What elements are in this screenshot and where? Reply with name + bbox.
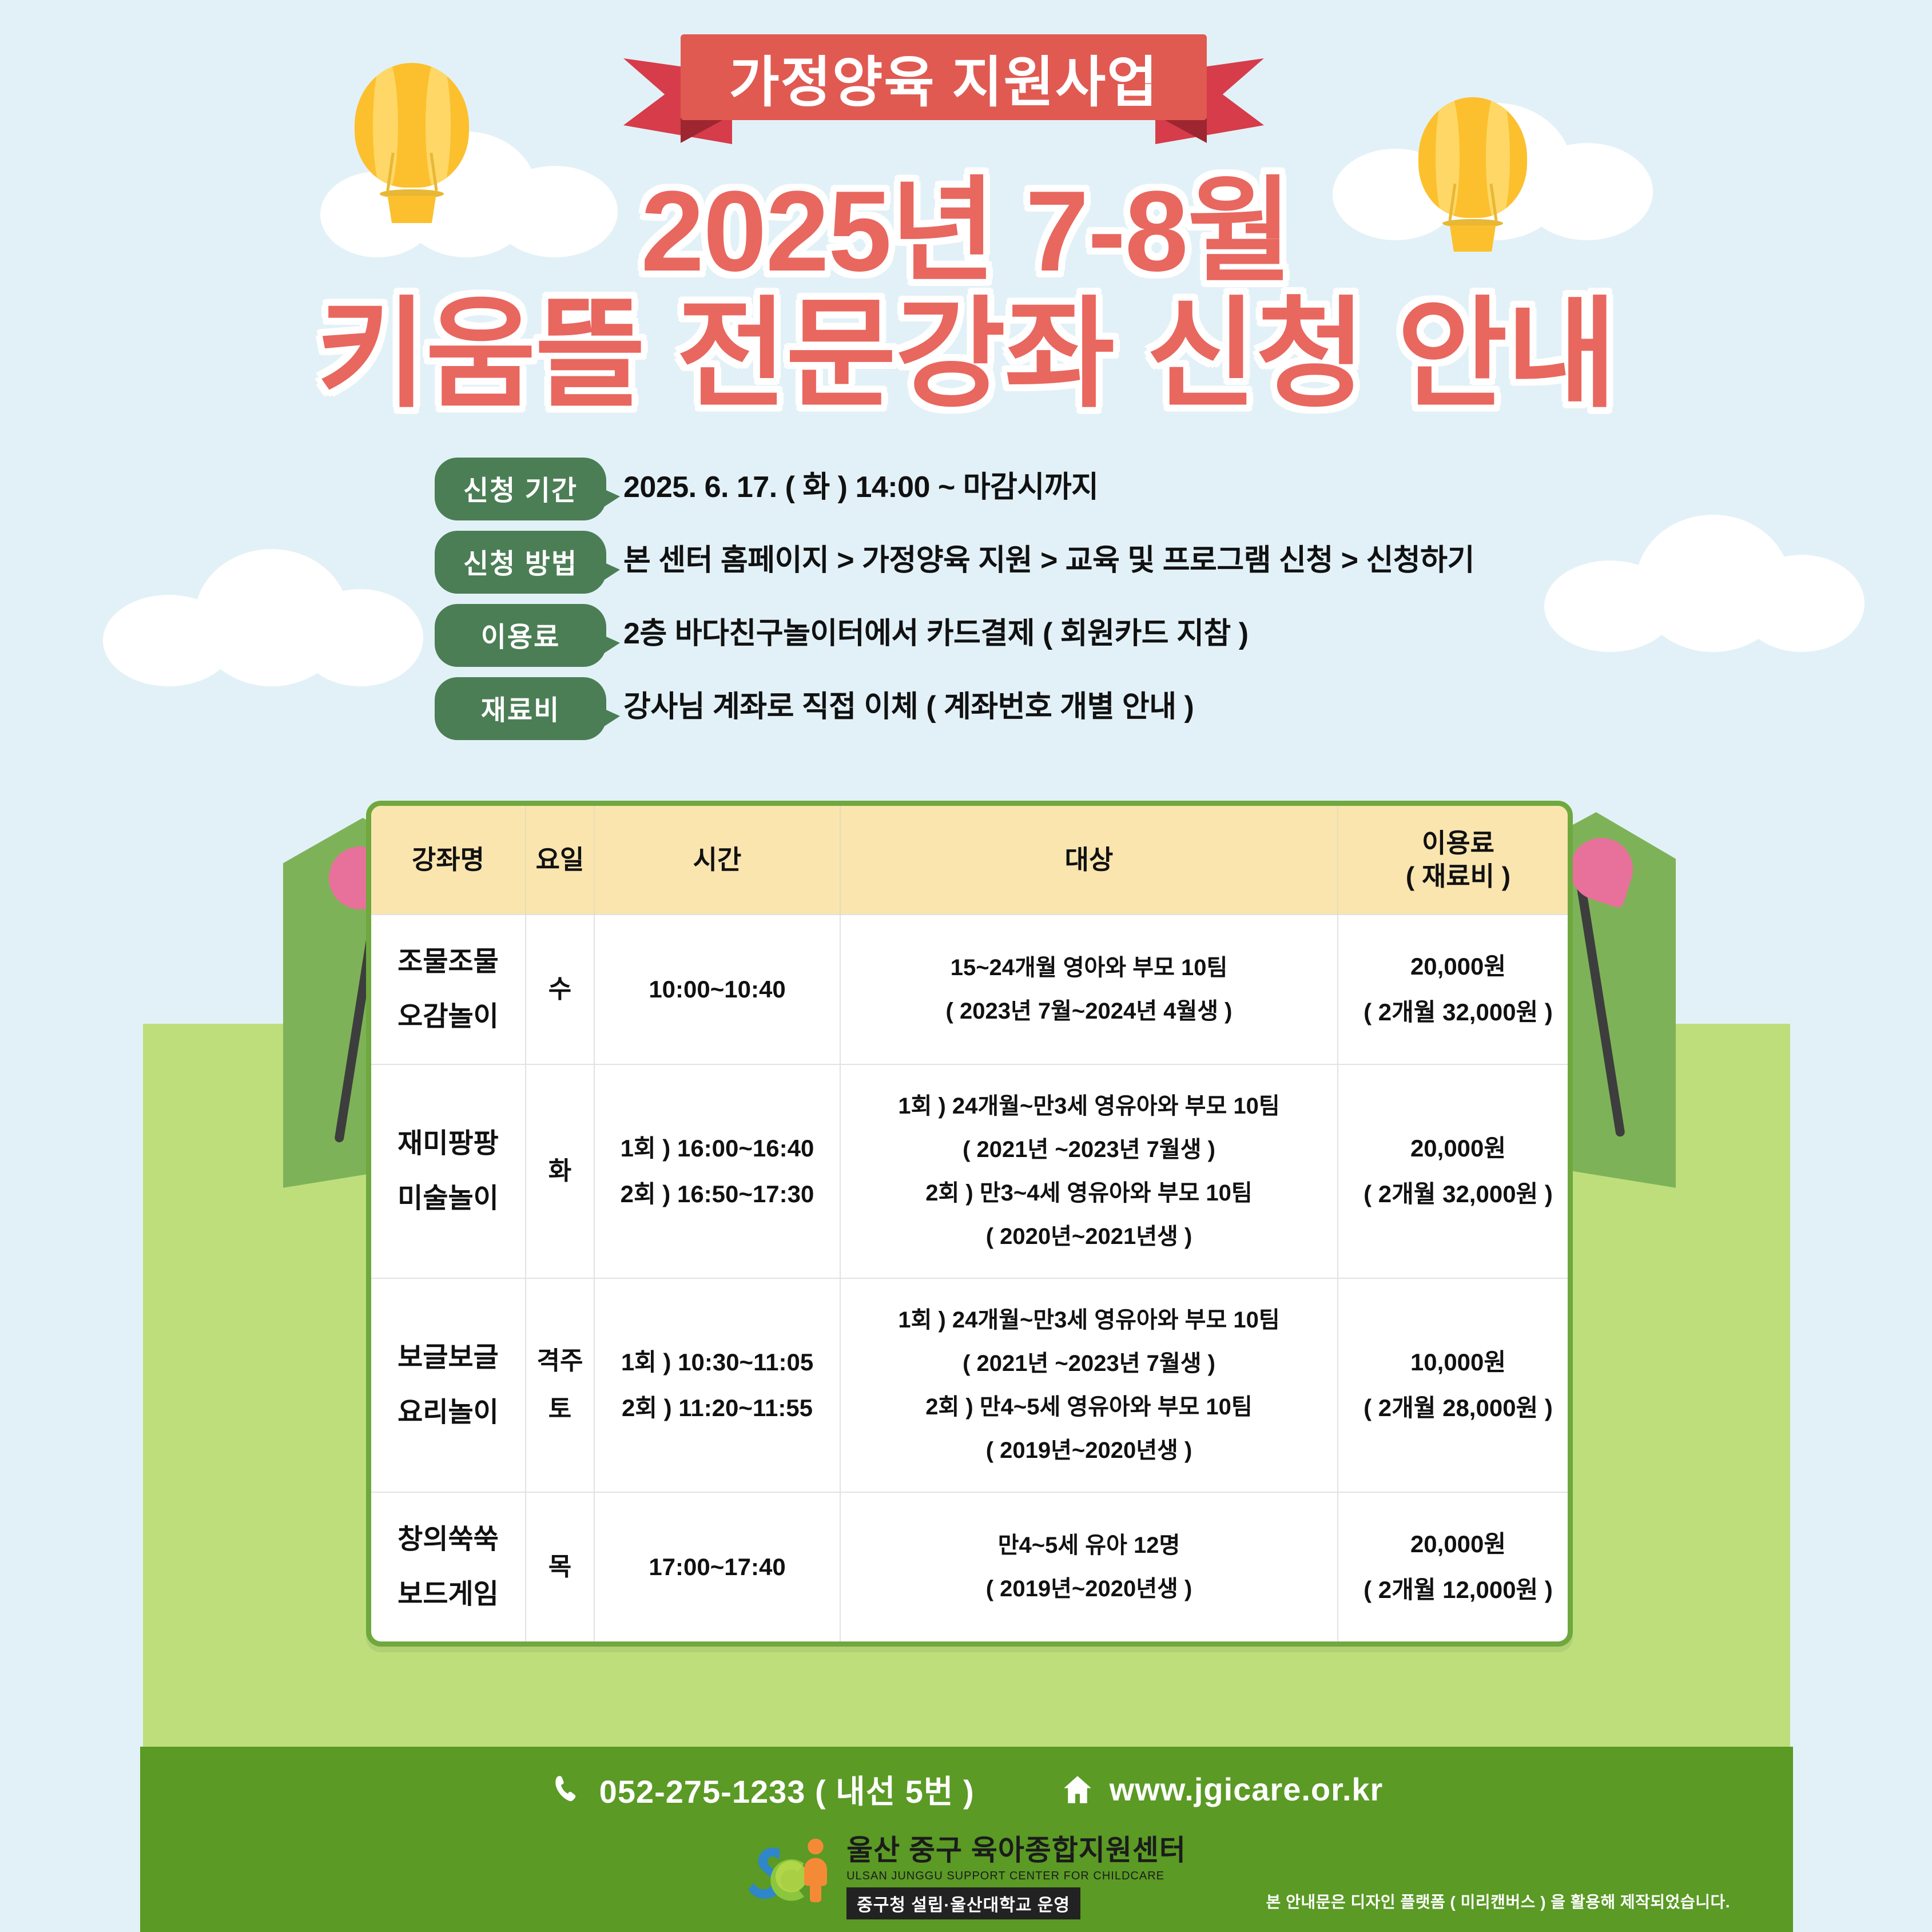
info-row-material: 재료비 강사님 계좌로 직접 이체 ( 계좌번호 개별 안내 ) — [435, 677, 1693, 740]
ribbon-label: 가정양육 지원사업 — [729, 38, 1158, 117]
header-time: 시간 — [594, 806, 840, 915]
footer-website-url: www.jgicare.or.kr — [1110, 1771, 1384, 1808]
header-fee-line2: ( 재료비 ) — [1342, 860, 1573, 893]
balloon-envelope-icon — [355, 63, 469, 188]
home-icon — [1060, 1772, 1095, 1807]
course-table-card: 강좌명 요일 시간 대상 이용료 ( 재료비 ) 조물조물오감놀이 수 10:0… — [366, 801, 1573, 1647]
cell-day: 수 — [526, 915, 594, 1064]
cell-target: 15~24개월 영아와 부모 10팀( 2023년 7월~2024년 4월생 ) — [840, 915, 1338, 1064]
table-row: 창의쑥쑥보드게임 목 17:00~17:40 만4~5세 유아 12명( 201… — [371, 1492, 1573, 1641]
course-table-body: 조물조물오감놀이 수 10:00~10:40 15~24개월 영아와 부모 10… — [371, 915, 1573, 1641]
info-value-period: 2025. 6. 17. ( 화 ) 14:00 ~ 마감시까지 — [623, 458, 1693, 509]
title-line-2: 키움뜰 전문강좌 신청 안내 — [0, 292, 1932, 418]
logo-name-kr: 울산 중구 육아종합지원센터 — [846, 1827, 1186, 1869]
cell-course-name: 재미팡팡미술놀이 — [371, 1064, 526, 1278]
footer-bar: 052-275-1233 ( 내선 5번 ) www.jgicare.or.kr — [140, 1747, 1793, 1932]
info-label-holder: 재료비 — [435, 677, 623, 740]
cell-target: 만4~5세 유아 12명( 2019년~2020년생 ) — [840, 1492, 1338, 1641]
cloud-left-mid — [103, 549, 423, 686]
info-label-period: 신청 기간 — [435, 458, 606, 520]
cell-day: 격주토 — [526, 1278, 594, 1492]
cell-day: 화 — [526, 1064, 594, 1278]
cell-course-name: 조물조물오감놀이 — [371, 915, 526, 1064]
table-row: 조물조물오감놀이 수 10:00~10:40 15~24개월 영아와 부모 10… — [371, 915, 1573, 1064]
cell-target: 1회 ) 24개월~만3세 영유아와 부모 10팀( 2021년 ~2023년 … — [840, 1064, 1338, 1278]
page-title: 2025년 7-8월 키움뜰 전문강좌 신청 안내 — [0, 172, 1932, 418]
poster-root: 가정양육 지원사업 2025년 7-8월 키움뜰 전문강좌 신청 안내 신청 기… — [0, 0, 1932, 1932]
info-row-period: 신청 기간 2025. 6. 17. ( 화 ) 14:00 ~ 마감시까지 — [435, 458, 1693, 520]
info-row-method: 신청 방법 본 센터 홈페이지 > 가정양육 지원 > 교육 및 프로그램 신청… — [435, 531, 1693, 594]
info-row-fee: 이용료 2층 바다친구놀이터에서 카드결제 ( 회원카드 지참 ) — [435, 604, 1693, 667]
logo-tagline: 중구청 설립·울산대학교 운영 — [846, 1887, 1080, 1919]
info-list: 신청 기간 2025. 6. 17. ( 화 ) 14:00 ~ 마감시까지 신… — [435, 458, 1693, 750]
header-target: 대상 — [840, 806, 1338, 915]
info-label-method: 신청 방법 — [435, 531, 606, 594]
ribbon-body: 가정양육 지원사업 — [681, 34, 1207, 120]
title-line-1: 2025년 7-8월 — [0, 172, 1932, 292]
info-value-fee: 2층 바다친구놀이터에서 카드결제 ( 회원카드 지참 ) — [623, 604, 1693, 655]
cell-time: 10:00~10:40 — [594, 915, 840, 1064]
cell-course-name: 창의쑥쑥보드게임 — [371, 1492, 526, 1641]
cell-fee: 20,000원( 2개월 32,000원 ) — [1338, 1064, 1573, 1278]
cell-time: 1회 ) 10:30~11:052회 ) 11:20~11:55 — [594, 1278, 840, 1492]
header-fee-line1: 이용료 — [1342, 827, 1573, 860]
info-label-material: 재료비 — [435, 677, 606, 740]
footer-contact: 052-275-1233 ( 내선 5번 ) www.jgicare.or.kr — [140, 1766, 1793, 1812]
cell-target: 1회 ) 24개월~만3세 영유아와 부모 10팀( 2021년 ~2023년 … — [840, 1278, 1338, 1492]
logo-text-block: 울산 중구 육아종합지원센터 ULSAN JUNGGU SUPPORT CENT… — [846, 1827, 1186, 1919]
header-fee: 이용료 ( 재료비 ) — [1338, 806, 1573, 915]
footer-phone-number: 052-275-1233 ( 내선 5번 ) — [599, 1766, 975, 1812]
info-label-holder: 이용료 — [435, 604, 623, 667]
sci-logo-icon — [747, 1831, 833, 1917]
ribbon-banner: 가정양육 지원사업 — [681, 34, 1207, 120]
footer-disclaimer: 본 안내문은 디자인 플랫폼 ( 미리캔버스 ) 을 활용해 제작되었습니다. — [1266, 1890, 1730, 1913]
header-day: 요일 — [526, 806, 594, 915]
cell-fee: 20,000원( 2개월 32,000원 ) — [1338, 915, 1573, 1064]
header-course-name: 강좌명 — [371, 806, 526, 915]
cell-course-name: 보글보글요리놀이 — [371, 1278, 526, 1492]
cell-fee: 10,000원( 2개월 28,000원 ) — [1338, 1278, 1573, 1492]
info-label-holder: 신청 방법 — [435, 531, 623, 594]
info-value-material: 강사님 계좌로 직접 이체 ( 계좌번호 개별 안내 ) — [623, 677, 1693, 729]
info-label-fee: 이용료 — [435, 604, 606, 667]
logo-name-en: ULSAN JUNGGU SUPPORT CENTER FOR CHILDCAR… — [846, 1870, 1186, 1883]
phone-icon — [550, 1772, 585, 1807]
footer-website-item[interactable]: www.jgicare.or.kr — [1060, 1771, 1384, 1808]
cell-time: 1회 ) 16:00~16:402회 ) 16:50~17:30 — [594, 1064, 840, 1278]
cell-fee: 20,000원( 2개월 12,000원 ) — [1338, 1492, 1573, 1641]
footer-phone-item[interactable]: 052-275-1233 ( 내선 5번 ) — [550, 1766, 975, 1812]
course-table: 강좌명 요일 시간 대상 이용료 ( 재료비 ) 조물조물오감놀이 수 10:0… — [371, 806, 1573, 1641]
table-row: 보글보글요리놀이 격주토 1회 ) 10:30~11:052회 ) 11:20~… — [371, 1278, 1573, 1492]
info-label-holder: 신청 기간 — [435, 458, 623, 520]
table-row: 재미팡팡미술놀이 화 1회 ) 16:00~16:402회 ) 16:50~17… — [371, 1064, 1573, 1278]
info-value-method: 본 센터 홈페이지 > 가정양육 지원 > 교육 및 프로그램 신청 > 신청하… — [623, 531, 1647, 582]
cell-day: 목 — [526, 1492, 594, 1641]
table-header-row: 강좌명 요일 시간 대상 이용료 ( 재료비 ) — [371, 806, 1573, 915]
cell-time: 17:00~17:40 — [594, 1492, 840, 1641]
